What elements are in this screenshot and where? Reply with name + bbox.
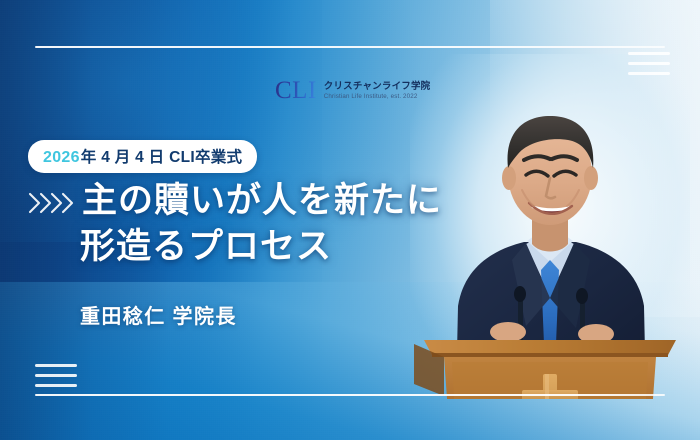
- headline-line-1: 主の贖いが人を新たに: [82, 178, 442, 224]
- presentation-slide: CLI クリスチャンライフ学院 Christian Life Institute…: [0, 0, 700, 440]
- event-date-badge: 2026 年 4 月 4 日 CLI卒業式: [28, 140, 257, 173]
- menu-icon-top-right[interactable]: [628, 52, 670, 75]
- headline-row-1: 主の贖いが人を新たに: [28, 178, 498, 224]
- cli-logo-name-jp: クリスチャンライフ学院: [324, 82, 431, 92]
- badge-event-text: 年 4 月 4 日 CLI卒業式: [81, 145, 243, 167]
- cli-logo-text: クリスチャンライフ学院 Christian Life Institute, es…: [324, 82, 431, 100]
- cli-logo-mark: CLI: [275, 78, 317, 105]
- headline: 主の贖いが人を新たに 形造るプロセス: [28, 178, 498, 270]
- top-divider: [35, 46, 665, 48]
- menu-icon-line: [628, 52, 670, 55]
- bottom-divider: [35, 394, 665, 396]
- menu-icon-line: [628, 72, 670, 75]
- cli-logo-name-en: Christian Life Institute, est. 2022: [324, 94, 431, 101]
- speaker-name: 重田稔仁 学院長: [80, 300, 237, 329]
- cli-logo: CLI クリスチャンライフ学院 Christian Life Institute…: [275, 78, 430, 105]
- menu-icon-line: [35, 364, 77, 367]
- chevron-right-icon: [28, 190, 76, 216]
- menu-icon-line: [35, 374, 77, 377]
- menu-icon-line: [628, 62, 670, 65]
- menu-icon-bottom-left[interactable]: [35, 364, 77, 387]
- menu-icon-line: [35, 384, 77, 387]
- headline-line-2: 形造るプロセス: [80, 224, 498, 270]
- badge-year: 2026: [43, 149, 80, 167]
